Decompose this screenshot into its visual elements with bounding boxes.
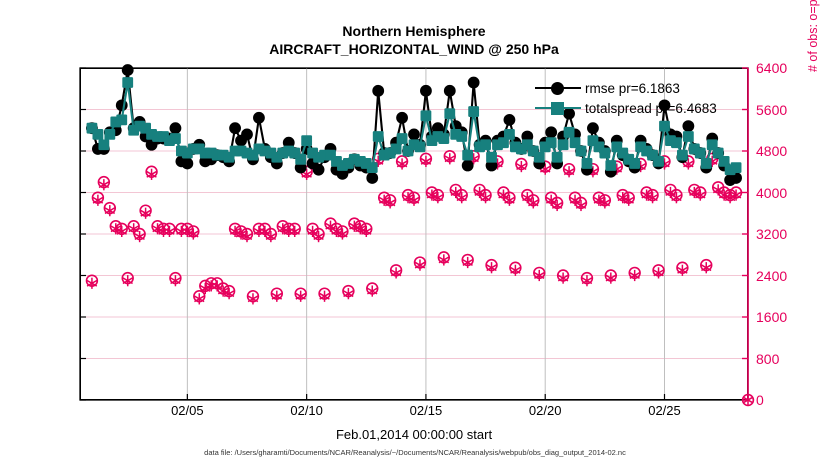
legend-label-totalspread: totalspread pr=6.4683 — [585, 101, 717, 116]
y-tick-right-1600: 1600 — [756, 310, 816, 324]
data-file-footer: data file: /Users/gharamti/Documents/NCA… — [0, 448, 830, 457]
x-tick-02-25: 02/25 — [630, 404, 700, 417]
x-tick-02-05: 02/05 — [152, 404, 222, 417]
y-tick-right-800: 800 — [756, 352, 816, 366]
x-tick-02-10: 02/10 — [272, 404, 342, 417]
legend-marker-totalspread — [535, 100, 581, 116]
x-tick-02-20: 02/20 — [510, 404, 580, 417]
y-tick-right-0: 0 — [756, 393, 816, 407]
y-tick-right-5600: 5600 — [756, 103, 816, 117]
legend-label-rmse: rmse pr=6.1863 — [585, 81, 680, 96]
y-tick-right-3200: 3200 — [756, 227, 816, 241]
y-tick-right-2400: 2400 — [756, 269, 816, 283]
legend-marker-rmse — [535, 80, 581, 96]
y-tick-right-4000: 4000 — [756, 186, 816, 200]
x-tick-02-15: 02/15 — [391, 404, 461, 417]
legend-item-totalspread: totalspread pr=6.4683 — [535, 98, 717, 118]
title-line-1: Northern Hemisphere — [80, 22, 748, 40]
chart-title: Northern Hemisphere AIRCRAFT_HORIZONTAL_… — [80, 22, 748, 58]
legend: rmse pr=6.1863 totalspread pr=6.4683 — [535, 78, 740, 118]
legend-item-rmse: rmse pr=6.1863 — [535, 78, 680, 98]
figure-canvas: Northern Hemisphere AIRCRAFT_HORIZONTAL_… — [0, 0, 830, 470]
title-line-2: AIRCRAFT_HORIZONTAL_WIND @ 250 hPa — [80, 40, 748, 58]
y-tick-right-4800: 4800 — [756, 144, 816, 158]
y-tick-right-6400: 6400 — [756, 61, 816, 75]
x-axis-label: Feb.01,2014 00:00:00 start — [80, 427, 748, 442]
